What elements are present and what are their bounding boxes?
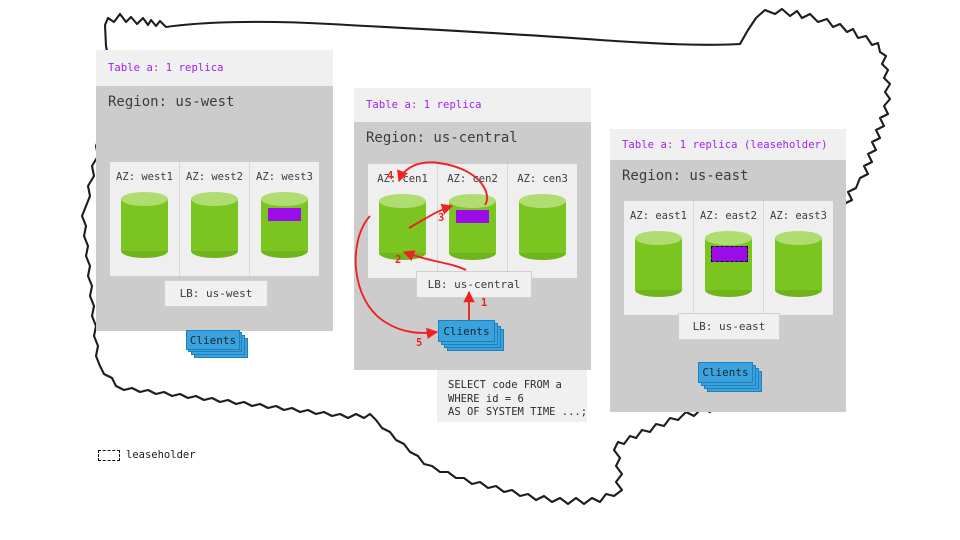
arrow-number-2: 2 <box>395 254 401 266</box>
arrow-step-3 <box>409 206 452 228</box>
arrow-number-4: 4 <box>387 170 393 182</box>
arrow-step-5 <box>356 216 437 333</box>
diagram-canvas: Table a: 1 replica Region: us-west AZ: w… <box>0 0 960 540</box>
arrow-number-1: 1 <box>481 297 487 309</box>
arrow-number-5: 5 <box>416 337 422 349</box>
arrow-number-3: 3 <box>438 212 444 224</box>
arrow-step-4 <box>399 162 487 205</box>
flow-arrows <box>0 0 960 540</box>
arrow-step-2 <box>404 252 466 270</box>
